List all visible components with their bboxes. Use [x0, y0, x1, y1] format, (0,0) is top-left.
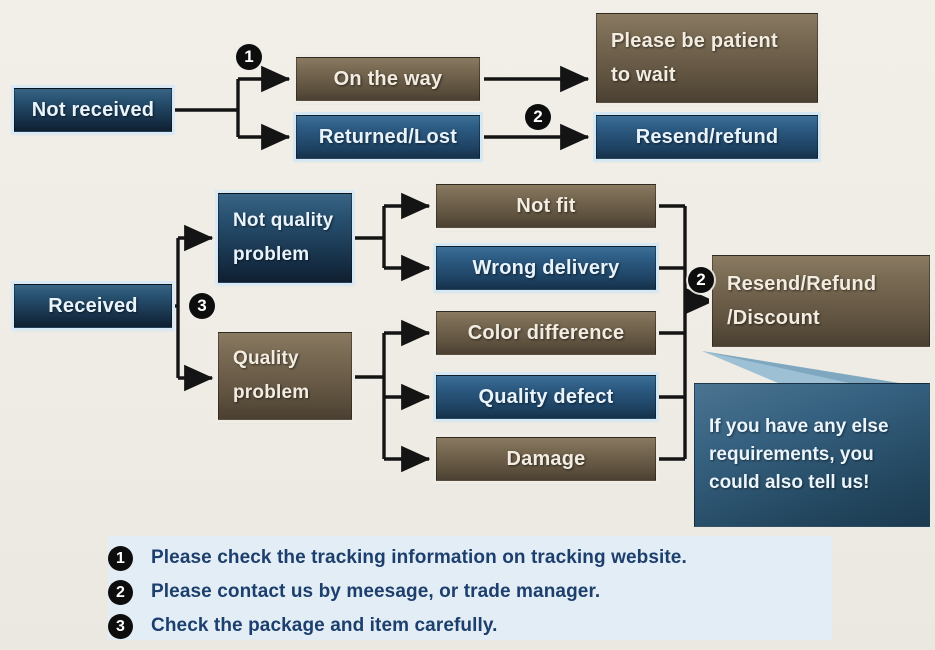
node-wrong-delivery-label: Wrong delivery: [473, 257, 620, 280]
badge-3: 3: [189, 293, 215, 319]
node-resend-refund-discount[interactable]: Resend/Refund /Discount: [712, 255, 930, 347]
node-color-difference[interactable]: Color difference: [436, 311, 656, 355]
node-received-label: Received: [48, 295, 137, 318]
node-returned-lost-label: Returned/Lost: [319, 126, 457, 149]
node-resend-refund-discount-line2: /Discount: [727, 307, 929, 330]
node-not-received[interactable]: Not received: [14, 88, 172, 132]
callout-line2: requirements, you: [695, 441, 929, 469]
legend-item: 1 Please check the tracking information …: [108, 542, 687, 574]
node-returned-lost[interactable]: Returned/Lost: [296, 115, 480, 159]
legend-text-2: Please contact us by meesage, or trade m…: [151, 581, 600, 603]
callout-box[interactable]: If you have any else requirements, you c…: [694, 383, 930, 527]
flowchart-canvas: Not received On the way Returned/Lost Pl…: [0, 0, 935, 650]
node-not-fit-label: Not fit: [516, 195, 575, 218]
node-please-be-patient[interactable]: Please be patient to wait: [596, 13, 818, 103]
legend-text-3: Check the package and item carefully.: [151, 615, 498, 637]
node-received[interactable]: Received: [14, 284, 172, 328]
badge-2-right: 2: [688, 267, 714, 293]
node-quality-problem-line1: Quality: [233, 348, 351, 370]
node-not-quality-problem-line2: problem: [233, 244, 351, 266]
legend-badge-1: 1: [108, 546, 133, 571]
node-on-the-way-label: On the way: [334, 68, 443, 91]
node-color-difference-label: Color difference: [468, 322, 625, 345]
node-on-the-way[interactable]: On the way: [296, 57, 480, 101]
node-damage[interactable]: Damage: [436, 437, 656, 481]
node-resend-refund[interactable]: Resend/refund: [596, 115, 818, 159]
legend-item: 3 Check the package and item carefully.: [108, 610, 498, 642]
node-damage-label: Damage: [506, 448, 585, 471]
callout-line1: If you have any else: [695, 413, 929, 441]
badge-1: 1: [236, 44, 262, 70]
badge-2-top: 2: [525, 104, 551, 130]
node-resend-refund-label: Resend/refund: [636, 126, 779, 149]
node-quality-problem-line2: problem: [233, 382, 351, 404]
legend-badge-2: 2: [108, 580, 133, 605]
node-quality-defect-label: Quality defect: [478, 386, 613, 409]
node-please-be-patient-line2: to wait: [611, 64, 817, 87]
legend-panel: 1 Please check the tracking information …: [108, 536, 832, 640]
legend-item: 2 Please contact us by meesage, or trade…: [108, 576, 600, 608]
node-resend-refund-discount-line1: Resend/Refund: [727, 273, 929, 296]
node-not-fit[interactable]: Not fit: [436, 184, 656, 228]
node-wrong-delivery[interactable]: Wrong delivery: [436, 246, 656, 290]
callout-line3: could also tell us!: [695, 469, 929, 497]
node-please-be-patient-line1: Please be patient: [611, 30, 817, 53]
node-quality-problem[interactable]: Quality problem: [218, 332, 352, 420]
node-quality-defect[interactable]: Quality defect: [436, 375, 656, 419]
node-not-quality-problem[interactable]: Not quality problem: [218, 193, 352, 283]
node-not-received-label: Not received: [32, 99, 154, 122]
legend-text-1: Please check the tracking information on…: [151, 547, 687, 569]
node-not-quality-problem-line1: Not quality: [233, 210, 351, 232]
legend-badge-3: 3: [108, 614, 133, 639]
